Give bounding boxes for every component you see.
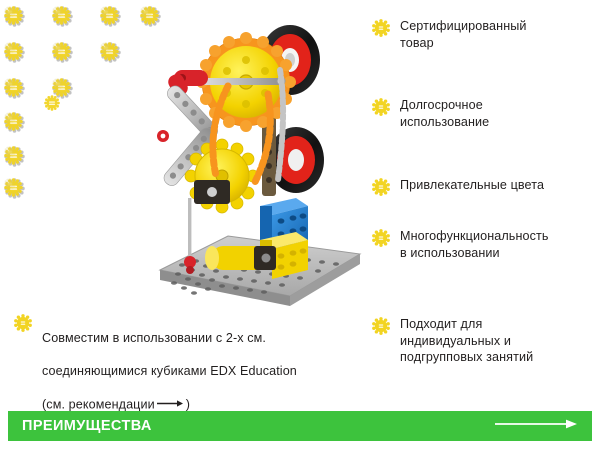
- left-bullet-column: Совместим в использовании с 2-х см. соед…: [14, 0, 364, 400]
- advantages-banner[interactable]: ПРЕИМУЩЕСТВА: [8, 411, 592, 441]
- bullet-attractive-colors: Привлекательные цвета: [372, 177, 544, 196]
- bullet-line-3-post: ): [186, 397, 190, 411]
- bullet-certified: Сертифицированный товар: [372, 18, 527, 51]
- right-bullet-column: Сертифицированный товар: [372, 0, 600, 400]
- gear-bullet-icon: [372, 98, 390, 116]
- bullet-compatible-edx: Совместим в использовании с 2-х см. соед…: [14, 313, 297, 414]
- bullet-individual-group: Подходит для индивидуальных и подгруппов…: [372, 316, 533, 366]
- bullet-line-1: Совместим в использовании с 2-х см.: [42, 331, 266, 345]
- bullet-label: Привлекательные цвета: [400, 177, 544, 194]
- gear-bullet-icon: [14, 314, 32, 332]
- bullet-label-block: Совместим в использовании с 2-х см. соед…: [42, 313, 297, 414]
- bullet-long-term-use: Долгосрочное использование: [372, 97, 489, 130]
- bullet-line-2: соединяющимися кубиками EDX Education: [42, 364, 297, 378]
- gear-bullet-icon: [372, 19, 390, 37]
- bullet-multifunctional: Многофункциональность в использовании: [372, 228, 549, 261]
- bullet-label: Сертифицированный товар: [400, 18, 527, 51]
- gear-bullet-icon: [372, 229, 390, 247]
- bullet-line-3-pre: (см. рекомендации: [42, 397, 155, 411]
- gear-bullet-icon: [372, 178, 390, 196]
- slide-root: Сертифицированный товар: [0, 0, 600, 450]
- right-arrow-icon: [157, 396, 183, 413]
- bullet-label: Подходит для индивидуальных и подгруппов…: [400, 316, 533, 366]
- bullet-label: Долгосрочное использование: [400, 97, 489, 130]
- gear-bullet-icon: [372, 317, 390, 335]
- bullet-label: Многофункциональность в использовании: [400, 228, 549, 261]
- banner-title: ПРЕИМУЩЕСТВА: [22, 418, 152, 434]
- right-arrow-icon[interactable]: [495, 417, 577, 435]
